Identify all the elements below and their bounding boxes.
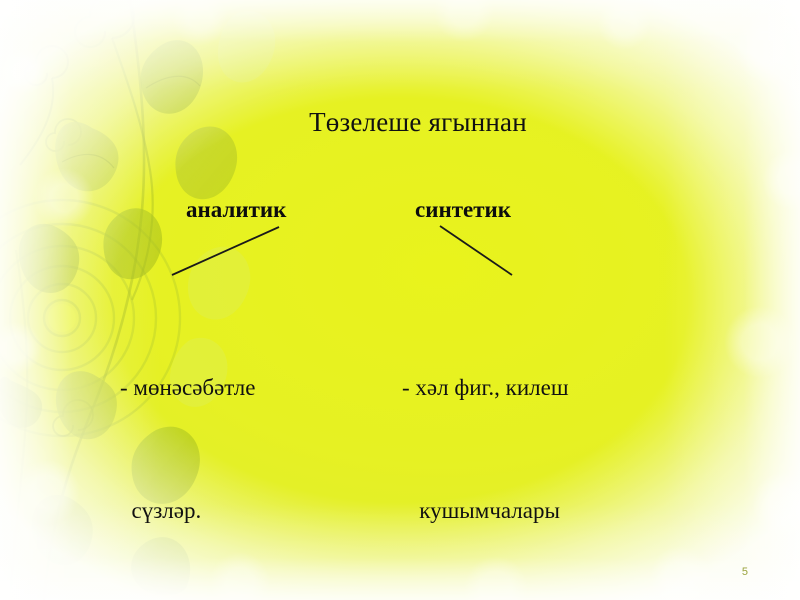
page-title: Төзелеше ягыннан — [0, 107, 800, 138]
presentation-slide: Төзелеше ягыннан аналитик синтетик - мөн… — [0, 0, 800, 600]
heading-sintetik: синтетик — [415, 197, 511, 223]
diagonal-line-right — [440, 226, 512, 275]
analytic-line-1: - мөнәсәбәтле — [120, 367, 255, 408]
analytic-line-2: сүзләр. — [120, 490, 255, 531]
synthetic-line-2: кушымчалары — [402, 490, 584, 531]
diagonal-line-left — [172, 227, 279, 275]
heading-analitik: аналитик — [186, 197, 286, 223]
synthetic-line-1: - хәл фиг., килеш — [402, 367, 584, 408]
slide-content: Төзелеше ягыннан аналитик синтетик - мөн… — [0, 0, 800, 600]
page-number: 5 — [742, 566, 748, 578]
column-synthetic: - хәл фиг., килеш кушымчалары - бәйлек һ… — [402, 285, 584, 600]
column-analytic: - мөнәсәбәтле сүзләр. — [120, 285, 255, 600]
